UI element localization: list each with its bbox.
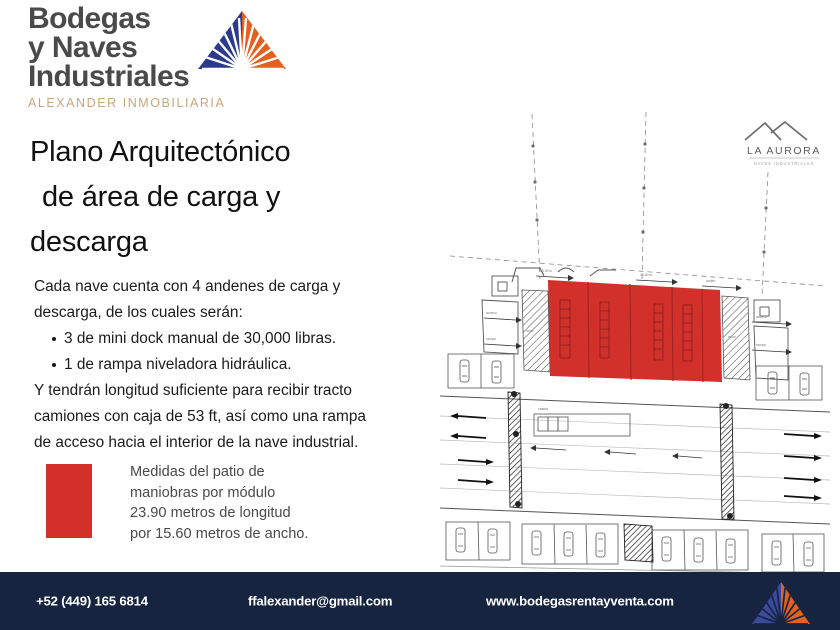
brand-wordmark: Bodegas y Naves Industriales ALEXANDER I… <box>28 4 198 110</box>
footer-triangle-rays-logo-icon <box>750 581 812 625</box>
flyer-page: Bodegas y Naves Industriales ALEXANDER I… <box>0 0 840 630</box>
svg-text:muro: muro <box>526 329 534 333</box>
svg-text:23.90 m: 23.90 m <box>540 269 552 273</box>
svg-text:acceso: acceso <box>756 315 767 319</box>
svg-text:muro: muro <box>728 335 736 339</box>
description-paragraph-2-line-3: de acceso hacia el interior de la nave i… <box>34 430 434 456</box>
legend-line-3: 23.90 metros de longitud <box>130 503 405 524</box>
architectural-plan-image: 23.90 m 15.60 m andén acceso rampa acces… <box>440 104 830 574</box>
brand-line-1: Bodegas <box>28 4 198 33</box>
list-item: 3 de mini dock manual de 30,000 libras. <box>34 326 434 352</box>
brand-line-3: Industriales <box>28 62 198 91</box>
svg-text:NAVES INDUSTRIALES: NAVES INDUSTRIALES <box>754 161 815 166</box>
svg-text:15.60 m: 15.60 m <box>640 273 652 277</box>
footer-website[interactable]: www.bodegasrentayventa.com <box>486 594 674 609</box>
legend-text: Medidas del patio de maniobras por módul… <box>130 462 405 544</box>
page-title-line-3: descarga <box>30 220 430 265</box>
triangle-rays-logo-icon <box>196 9 288 71</box>
brand-logo: Bodegas y Naves Industriales ALEXANDER I… <box>28 4 298 116</box>
svg-text:rampa: rampa <box>486 337 496 341</box>
svg-text:caseta: caseta <box>538 407 548 411</box>
legend-line-2: maniobras por módulo <box>130 483 405 504</box>
mountain-icon <box>745 122 807 140</box>
brand-tagline: ALEXANDER INMOBILIARIA <box>28 96 198 110</box>
la-aurora-watermark: LA AURORA NAVES INDUSTRIALES <box>735 118 833 168</box>
page-title: Plano Arquitectónico de área de carga y … <box>30 130 430 265</box>
contact-footer: +52 (449) 165 6814 ffalexander@gmail.com… <box>0 572 840 630</box>
footer-email[interactable]: ffalexander@gmail.com <box>248 594 392 609</box>
footer-phone[interactable]: +52 (449) 165 6814 <box>36 594 148 609</box>
list-item-label: 1 de rampa niveladora hidráulica. <box>64 356 292 373</box>
svg-text:LA AURORA: LA AURORA <box>747 145 821 157</box>
bullet-dot-icon <box>52 337 56 341</box>
page-title-line-1: Plano Arquitectónico <box>30 136 290 168</box>
legend-line-1: Medidas del patio de <box>130 462 405 483</box>
legend: Medidas del patio de maniobras por módul… <box>46 464 406 550</box>
page-title-line-2: de área de carga y <box>30 175 430 220</box>
description-block: Cada nave cuenta con 4 andenes de carga … <box>34 274 434 456</box>
description-paragraph-2-line-2: camiones con caja de 53 ft, así como una… <box>34 404 434 430</box>
svg-text:acceso: acceso <box>486 311 497 315</box>
legend-line-4: por 15.60 metros de ancho. <box>130 524 405 545</box>
dock-list: 3 de mini dock manual de 30,000 libras. … <box>34 326 434 378</box>
svg-text:andén: andén <box>706 279 716 283</box>
patio-highlight <box>548 280 722 382</box>
svg-text:rampa: rampa <box>756 343 766 347</box>
list-item: 1 de rampa niveladora hidráulica. <box>34 352 434 378</box>
patio-de-maniobras-swatch <box>46 464 92 538</box>
bullet-dot-icon <box>52 363 56 367</box>
description-paragraph-2-line-1: Y tendrán longitud suficiente para recib… <box>34 378 434 404</box>
brand-line-2: y Naves <box>28 33 198 62</box>
list-item-label: 3 de mini dock manual de 30,000 libras. <box>64 330 336 347</box>
description-paragraph-1-line-1: Cada nave cuenta con 4 andenes de carga … <box>34 274 434 300</box>
description-paragraph-1-line-2: descarga, de los cuales serán: <box>34 300 434 326</box>
